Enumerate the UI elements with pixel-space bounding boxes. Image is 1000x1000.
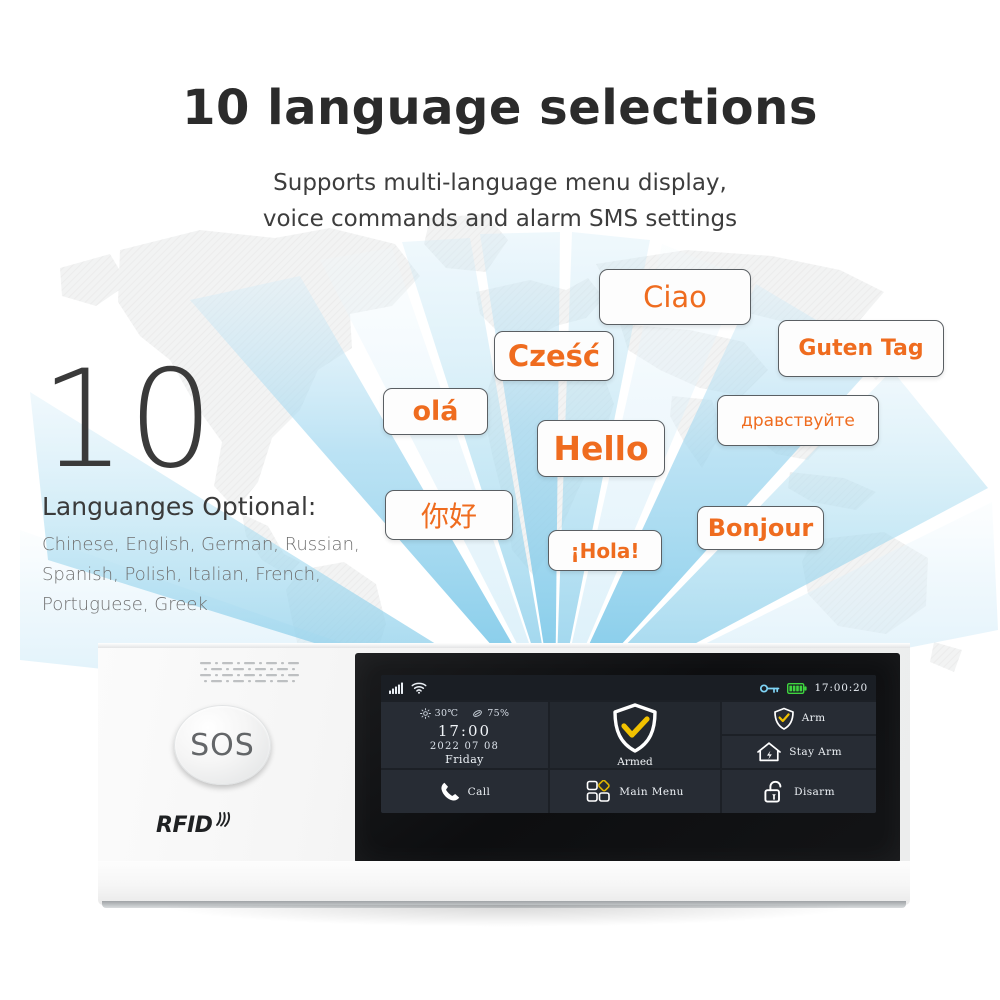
languages-line-2: Spanish, Polish, Italian, French, — [42, 560, 402, 590]
languages-optional-title: Languanges Optional: — [42, 492, 316, 521]
speaker-grille — [198, 661, 310, 687]
tile-call[interactable]: Call — [381, 770, 548, 813]
device-top-face: SOS RFID — [98, 643, 910, 865]
subtitle-line-1: Supports multi-language menu display, — [273, 170, 727, 196]
cellular-signal-icon — [389, 682, 404, 694]
shield-check-small-icon — [773, 707, 795, 730]
sos-button[interactable]: SOS — [174, 705, 271, 785]
temperature-value: 30℃ — [435, 708, 459, 719]
languages-list: Chinese, English, German, Russian, Spani… — [42, 530, 402, 620]
battery-full-icon — [787, 683, 807, 694]
tile-arm[interactable]: Arm — [722, 702, 876, 734]
device-ground-shadow — [158, 905, 858, 927]
humidity-icon — [472, 708, 483, 719]
page-title: 10 language selections — [0, 80, 1000, 136]
bubble-zdravstvuyte: дравствуйте — [717, 395, 879, 446]
subtitle-line-2: voice commands and alarm SMS settings — [0, 201, 1000, 237]
status-bar-time: 17:00:20 — [814, 682, 868, 694]
clock-weekday: Friday — [445, 753, 484, 766]
bubble-czesc: Cześć — [494, 331, 614, 381]
wifi-icon — [411, 682, 427, 694]
bubble-ni-hao: 你好 — [385, 490, 513, 540]
bubble-bonjour: Bonjour — [697, 506, 824, 550]
tile-stay-arm-label: Stay Arm — [789, 746, 842, 758]
unlocked-padlock-icon — [763, 780, 787, 804]
sos-button-label: SOS — [190, 728, 255, 763]
alarm-panel-device: SOS RFID — [98, 643, 910, 915]
right-tile-stack: Arm Stay Arm — [722, 702, 876, 768]
tile-call-label: Call — [468, 786, 491, 798]
bubble-ola: olá — [383, 388, 488, 435]
grid-squares-icon — [586, 780, 612, 804]
tile-main-menu[interactable]: Main Menu — [550, 770, 720, 813]
touchscreen-display[interactable]: 17:00:20 — [381, 675, 876, 813]
tile-stay-arm[interactable]: Stay Arm — [722, 736, 876, 768]
rfid-label: RFID — [156, 813, 212, 838]
status-bar: 17:00:20 — [381, 675, 876, 700]
clock-date: 2022 07 08 — [430, 741, 499, 752]
armed-label: Armed — [617, 756, 653, 768]
bubble-guten-tag: Guten Tag — [778, 320, 944, 377]
phone-handset-icon — [439, 781, 461, 803]
tile-main-menu-label: Main Menu — [619, 786, 684, 798]
bubble-hello: Hello — [537, 420, 665, 477]
page-subtitle: Supports multi-language menu display, vo… — [0, 165, 1000, 237]
clock-time: 17:00 — [438, 722, 491, 740]
device-front-face — [98, 861, 910, 905]
device-bevel — [98, 643, 910, 648]
weather-clock-widget[interactable]: 30℃ 75% — [381, 702, 548, 768]
home-person-icon — [756, 741, 782, 763]
screen-tile-grid: 30℃ 75% — [381, 700, 876, 813]
rfid-logo: RFID — [156, 813, 233, 838]
shield-check-icon — [610, 702, 660, 754]
bubble-hola: ¡Hola! — [548, 530, 662, 571]
tile-arm-label: Arm — [802, 712, 826, 724]
languages-line-3: Portuguese, Greek — [42, 590, 402, 620]
page-root: 10 language selections Supports multi-la… — [0, 0, 1000, 1000]
key-icon — [760, 683, 780, 694]
bubble-ciao: Ciao — [599, 269, 751, 325]
rfid-wave-icon — [213, 811, 233, 831]
tile-disarm-label: Disarm — [794, 786, 835, 798]
armed-status-panel[interactable]: Armed — [550, 702, 720, 768]
sun-icon — [420, 708, 431, 719]
tile-disarm[interactable]: Disarm — [722, 770, 876, 813]
languages-line-1: Chinese, English, German, Russian, — [42, 530, 402, 560]
big-number-ten: 10 — [40, 352, 216, 487]
humidity-value: 75% — [487, 708, 509, 719]
